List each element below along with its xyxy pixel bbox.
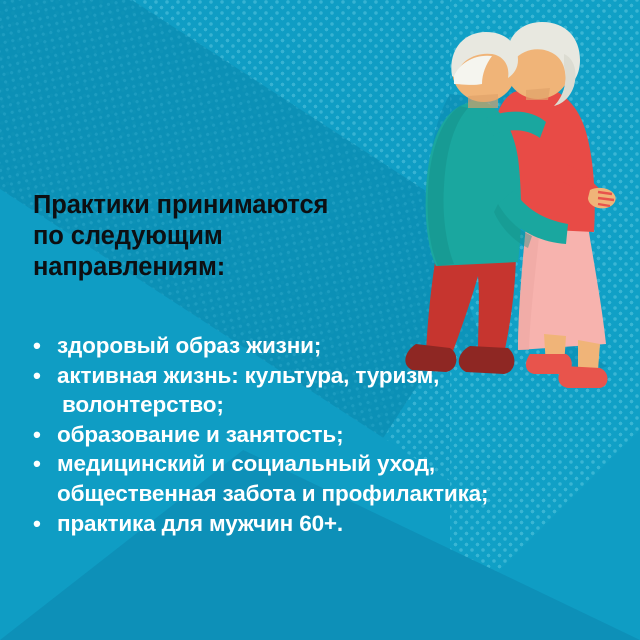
list-item-text: активная жизнь: культура, туризм, волонт… [57, 361, 613, 420]
list-item-text: здоровый образ жизни; [57, 331, 613, 361]
directions-bullet-list: • здоровый образ жизни; • активная жизнь… [33, 331, 613, 538]
list-item-line: образование и занятость; [57, 422, 343, 447]
heading-line-2: по следующим [33, 221, 393, 252]
list-item-line: медицинский и социальный уход, [57, 451, 435, 476]
list-item: • здоровый образ жизни; [33, 331, 613, 361]
list-item: • медицинский и социальный уход, обществ… [33, 449, 613, 508]
list-item-text: медицинский и социальный уход, обществен… [57, 449, 613, 508]
list-item: • активная жизнь: культура, туризм, воло… [33, 361, 613, 420]
heading-line-3: направлениям: [33, 252, 393, 283]
list-item-line-continued: общественная забота и профилактика; [57, 479, 613, 509]
bullet-point-icon: • [33, 449, 57, 479]
poster-heading: Практики принимаются по следующим направ… [33, 190, 393, 283]
poster-canvas: Практики принимаются по следующим направ… [0, 0, 640, 640]
bullet-point-icon: • [33, 509, 57, 539]
list-item-text: образование и занятость; [57, 420, 613, 450]
bullet-point-icon: • [33, 331, 57, 361]
list-item-line: здоровый образ жизни; [57, 333, 321, 358]
list-item-line: практика для мужчин 60+. [57, 511, 343, 536]
list-item-line: активная жизнь: культура, туризм, [57, 363, 439, 388]
heading-line-1: Практики принимаются [33, 190, 393, 221]
list-item: • практика для мужчин 60+. [33, 509, 613, 539]
list-item: • образование и занятость; [33, 420, 613, 450]
list-item-text: практика для мужчин 60+. [57, 509, 613, 539]
bullet-point-icon: • [33, 361, 57, 391]
bullet-point-icon: • [33, 420, 57, 450]
list-item-line-continued: волонтерство; [57, 390, 613, 420]
